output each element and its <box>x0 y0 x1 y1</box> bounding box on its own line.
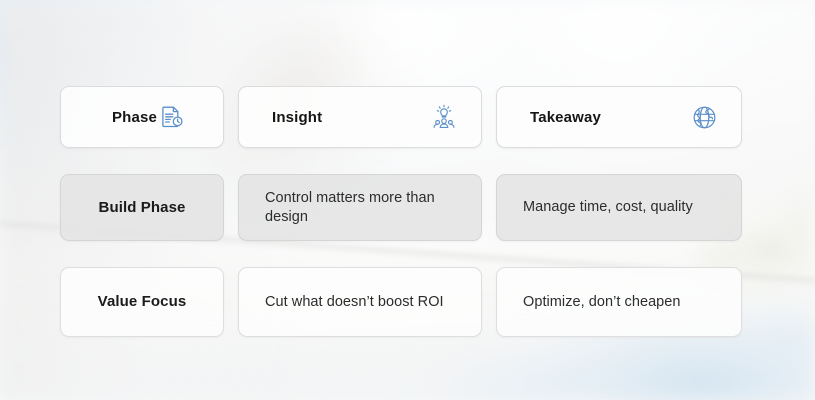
row-insight-build-phase[interactable]: Control matters more than design <box>238 174 482 241</box>
slide-canvas: Phase Insight <box>0 0 815 400</box>
row-insight-value-focus[interactable]: Cut what doesn’t boost ROI <box>238 267 482 337</box>
cell-text: Value Focus <box>98 293 187 311</box>
cell-text: Manage time, cost, quality <box>515 198 693 216</box>
header-cell-takeaway[interactable]: Takeaway <box>496 86 742 148</box>
row-takeaway-value-focus[interactable]: Optimize, don’t cheapen <box>496 267 742 337</box>
row-label-build-phase[interactable]: Build Phase <box>60 174 224 241</box>
comparison-table: Phase Insight <box>60 86 744 337</box>
row-takeaway-build-phase[interactable]: Manage time, cost, quality <box>496 174 742 241</box>
header-cell-phase[interactable]: Phase <box>60 86 224 148</box>
header-label-phase: Phase <box>112 109 157 126</box>
globe-icon <box>689 102 719 132</box>
lightbulb-team-icon <box>429 102 459 132</box>
row-label-value-focus[interactable]: Value Focus <box>60 267 224 337</box>
cell-text: Build Phase <box>99 199 186 217</box>
cell-text: Cut what doesn’t boost ROI <box>257 293 444 311</box>
cell-text: Control matters more than design <box>257 189 463 225</box>
document-search-icon <box>157 102 187 132</box>
cell-text: Optimize, don’t cheapen <box>515 293 681 311</box>
header-label-takeaway: Takeaway <box>530 109 601 126</box>
header-cell-insight[interactable]: Insight <box>238 86 482 148</box>
header-label-insight: Insight <box>272 109 322 126</box>
